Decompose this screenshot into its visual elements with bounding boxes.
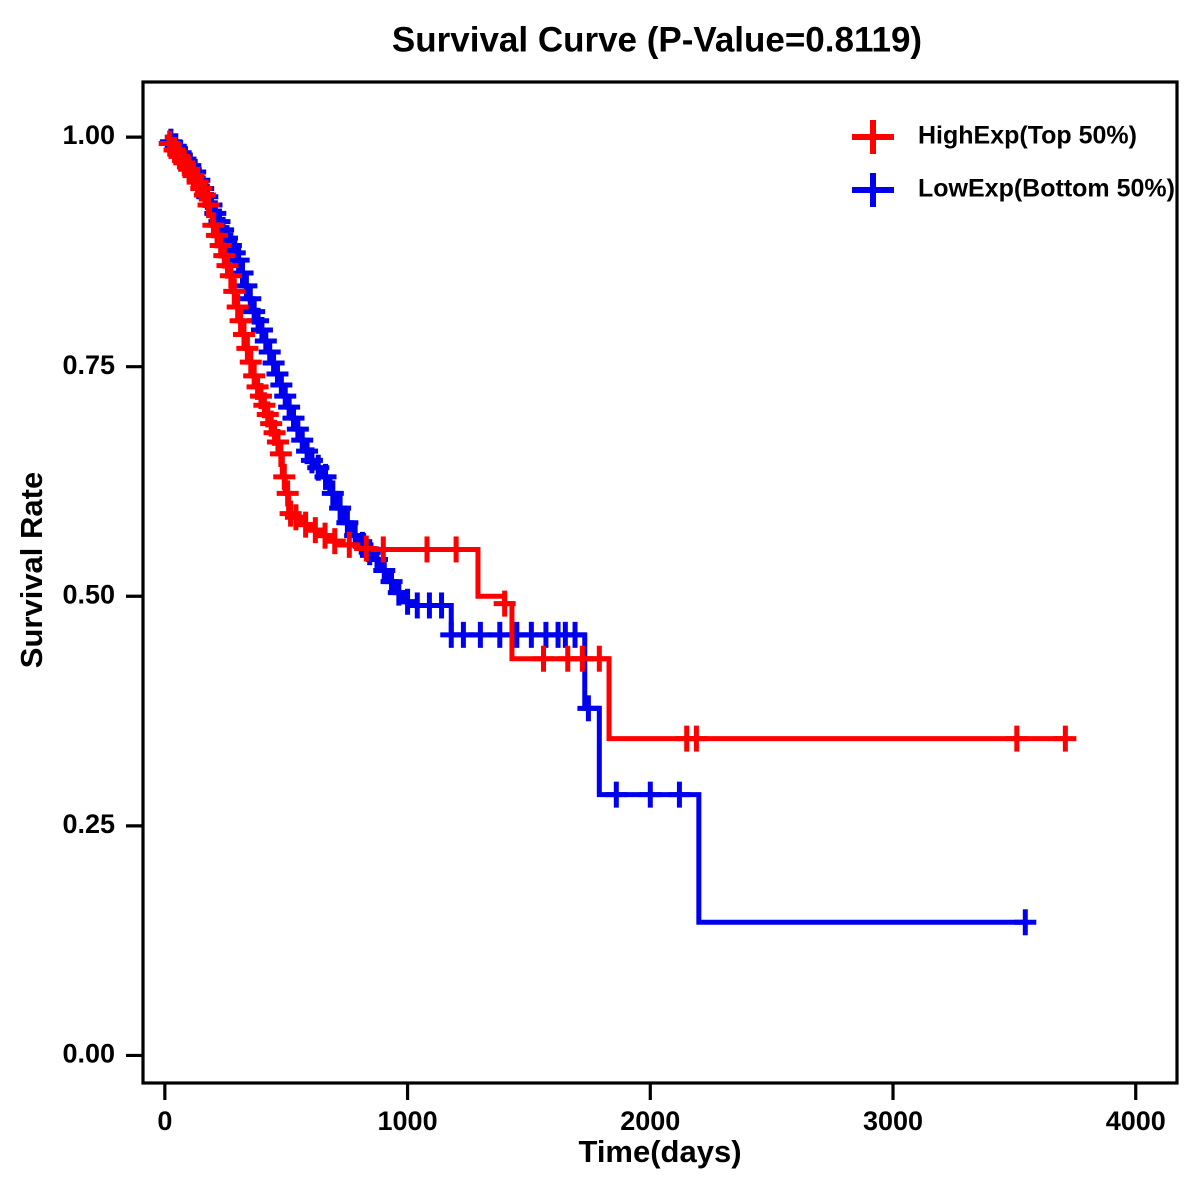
legend-label: HighExp(Top 50%)	[918, 122, 1137, 150]
legend-label: LowExp(Bottom 50%)	[918, 175, 1175, 203]
x-axis-title: Time(days)	[578, 1134, 741, 1169]
chart-title: Survival Curve (P-Value=0.8119)	[392, 20, 922, 59]
y-tick-label: 0.75	[62, 350, 115, 380]
y-tick-label: 1.00	[62, 120, 115, 150]
y-tick-label: 0.25	[62, 809, 115, 839]
y-tick-label: 0.50	[62, 579, 115, 609]
x-tick-label: 0	[157, 1106, 172, 1136]
x-tick-label: 2000	[620, 1106, 680, 1136]
survival-chart-svg: Survival Curve (P-Value=0.8119) 0.000.25…	[0, 0, 1200, 1200]
y-tick-label: 0.00	[62, 1039, 115, 1069]
x-tick-label: 4000	[1106, 1106, 1166, 1136]
survival-curve-figure: Survival Curve (P-Value=0.8119) 0.000.25…	[0, 0, 1200, 1200]
x-tick-label: 3000	[863, 1106, 923, 1136]
y-axis-title: Survival Rate	[14, 472, 49, 668]
x-tick-label: 1000	[378, 1106, 438, 1136]
